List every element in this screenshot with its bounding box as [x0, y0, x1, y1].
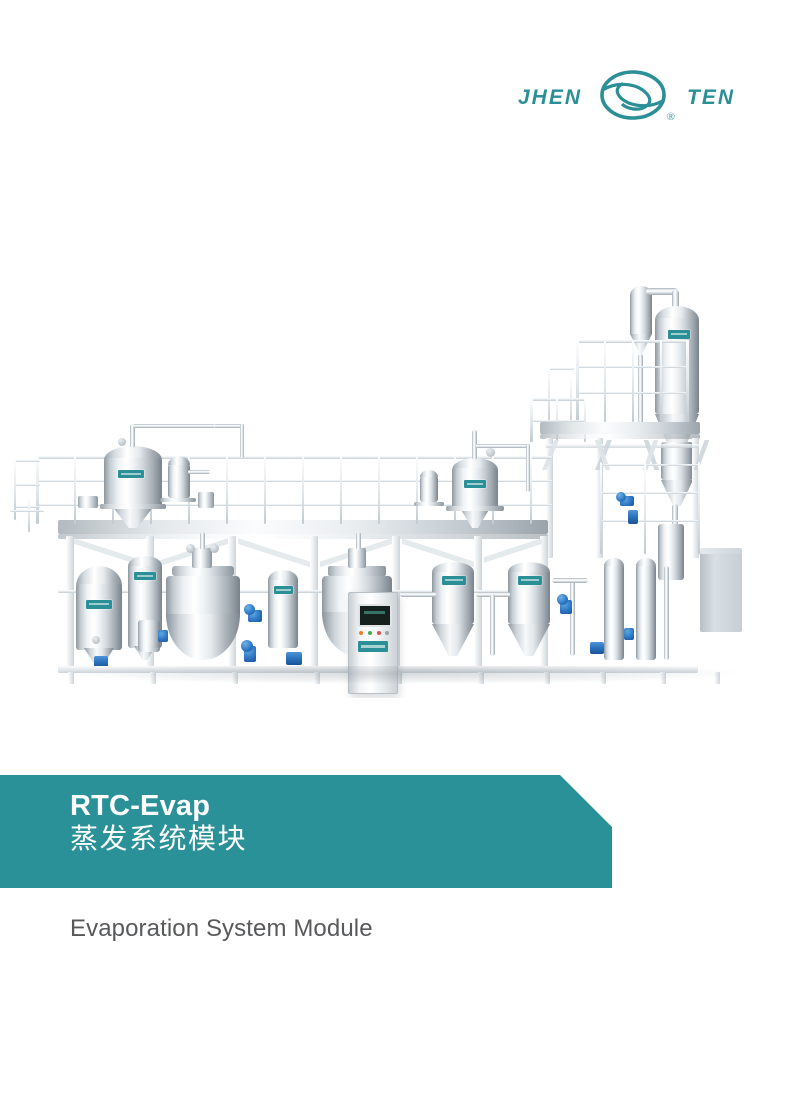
- hmi-screen[interactable]: [358, 604, 392, 627]
- product-caption: Evaporation System Module: [70, 915, 373, 943]
- brand-name-left: JHEN: [518, 87, 582, 108]
- indicator-light-green[interactable]: [368, 631, 372, 635]
- ellipse-swirl-logo-icon: ®: [594, 69, 676, 125]
- evaporation-system-skid-photo: [0, 248, 800, 698]
- indicator-light-grey[interactable]: [385, 631, 389, 635]
- indicator-light-red[interactable]: [377, 631, 381, 635]
- ground-shadow: [60, 666, 740, 684]
- cabinet-brand-plate: [358, 641, 388, 652]
- brand-logo: JHEN ® TEN: [518, 66, 748, 128]
- photo-content: [0, 248, 800, 698]
- brand-name-right: TEN: [687, 87, 735, 108]
- indicator-light-orange[interactable]: [359, 631, 363, 635]
- product-title-chinese: 蒸发系统模块: [70, 822, 247, 856]
- title-banner: RTC-Evap 蒸发系统模块: [0, 775, 612, 888]
- registered-trademark-icon: ®: [667, 112, 675, 123]
- product-title: RTC-Evap: [70, 789, 210, 823]
